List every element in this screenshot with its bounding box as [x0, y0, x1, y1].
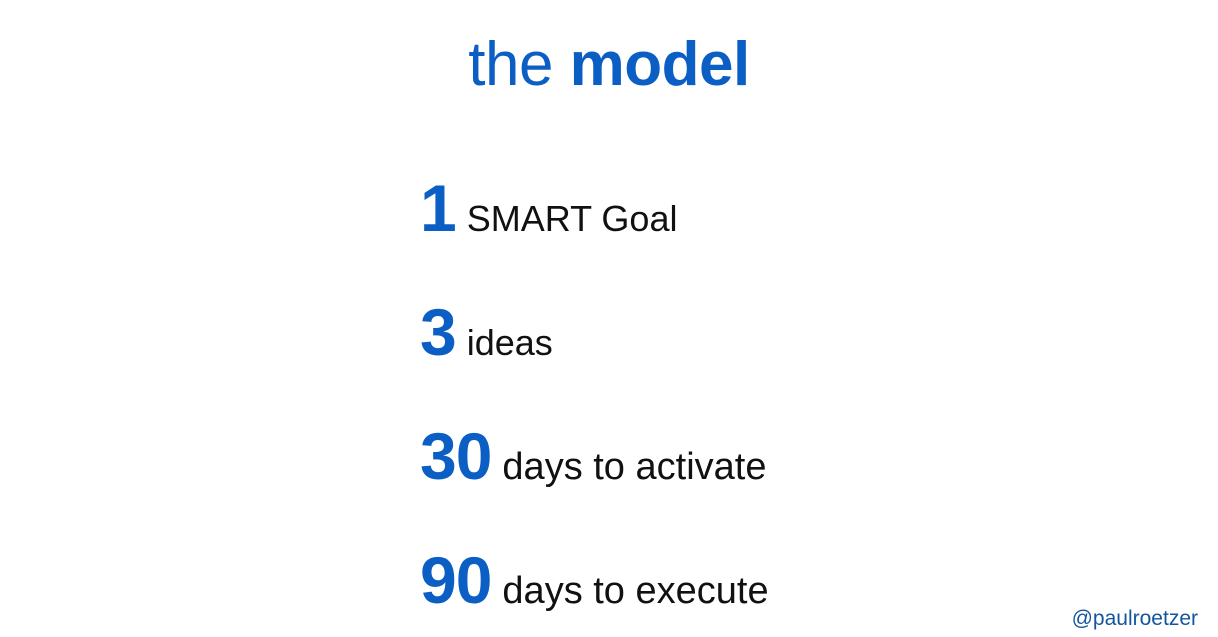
model-label: SMART Goal	[467, 201, 678, 237]
model-number: 1	[420, 175, 456, 241]
model-label: ideas	[467, 325, 553, 361]
list-item: 30 days to activate	[420, 423, 1180, 547]
author-handle: @paulroetzer	[1072, 608, 1198, 629]
list-item: 3 ideas	[420, 299, 1180, 423]
model-number: 3	[420, 299, 456, 365]
page-title-bold: model	[570, 30, 750, 99]
model-label: days to activate	[502, 448, 766, 486]
model-list: 1 SMART Goal 3 ideas 30 days to activate…	[420, 175, 1180, 637]
model-number: 90	[420, 547, 491, 613]
page-title: the model	[0, 34, 1218, 96]
model-label: days to execute	[502, 572, 768, 610]
list-item: 90 days to execute	[420, 547, 1180, 637]
model-number: 30	[420, 423, 491, 489]
list-item: 1 SMART Goal	[420, 175, 1180, 299]
slide-canvas: the model 1 SMART Goal 3 ideas 30 days t…	[0, 0, 1218, 637]
page-title-light: the	[468, 30, 569, 99]
